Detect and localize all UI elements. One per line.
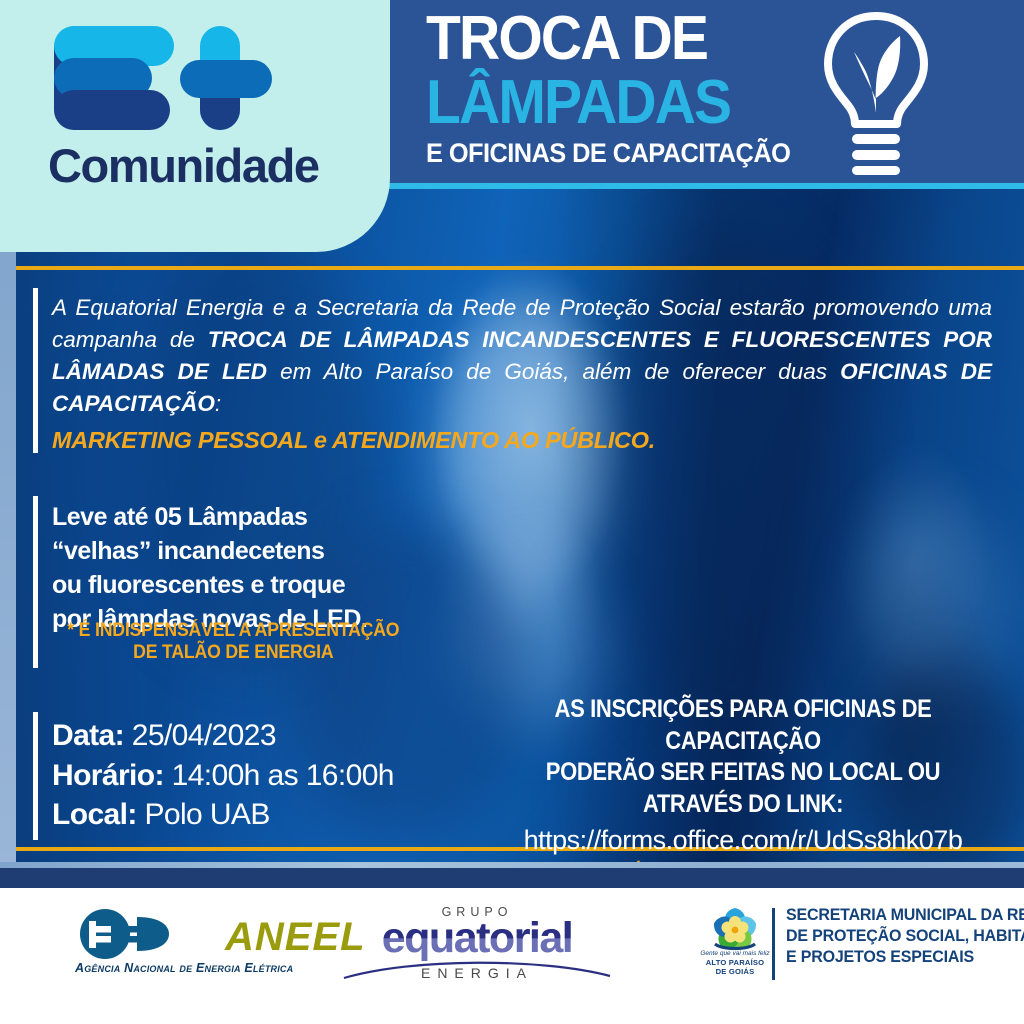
alto-paraiso-city-line1: ALTO PARAÍSO (700, 958, 770, 967)
rules-note-line1: * É INDISPENSÁVEL A APRESENTAÇÃO (38, 620, 429, 642)
rules-line3: ou fluorescentes e troque (52, 568, 452, 602)
navy-band (0, 868, 1024, 888)
alto-paraiso-city-line2: DE GOIÁS (700, 967, 770, 976)
secretaria-line3: E PROJETOS ESPECIAIS (786, 947, 1024, 968)
aneel-name: ANEEL (225, 915, 366, 960)
alto-paraiso-script: Gente que vai mais feliz (700, 950, 770, 957)
secretaria-line2: DE PROTEÇÃO SOCIAL, HABITAÇÃO (786, 926, 1024, 947)
detail-place-value: Polo UAB (137, 798, 270, 831)
brand-logo-word: Comunidade (48, 138, 319, 193)
rules-note: * É INDISPENSÁVEL A APRESENTAÇÃO DE TALÃ… (38, 620, 429, 664)
aneel-subtitle: Agência Nacional de Energia Elétrica (75, 961, 293, 975)
aneel-logo: ANEEL Agência Nacional de Energia Elétri… (75, 909, 205, 964)
rules-line1: Leve até 05 Lâmpadas (52, 500, 452, 534)
equatorial-name-wrap: equatorial equatorial (352, 918, 602, 959)
signup-line1: AS INSCRIÇÕES PARA OFICINAS DE CAPACITAÇ… (503, 694, 983, 757)
equatorial-swoosh-icon (342, 959, 612, 986)
lightbulb-leaf-icon (816, 8, 936, 183)
equatorial-logo: GRUPO equatorial equatorial ENERGIA (352, 905, 602, 981)
detail-place-label: Local: (52, 798, 137, 831)
detail-time-value: 14:00h as 16:00h (164, 759, 394, 792)
eplus-logo-icon (48, 22, 278, 139)
secretaria-logo: Gente que vai mais feliz ALTO PARAÍSO DE… (700, 906, 770, 963)
accent-bar-intro (33, 288, 38, 453)
signup-block: AS INSCRIÇÕES PARA OFICINAS DE CAPACITAÇ… (470, 694, 1016, 885)
header-subtitle: E OFICINAS DE CAPACITAÇÃO (426, 140, 790, 167)
secretaria-line1: SECRETARIA MUNICIPAL DA REDE (786, 905, 1024, 926)
detail-place: Local: Polo UAB (52, 795, 482, 835)
signup-line2: PODERÃO SER FEITAS NO LOCAL OU ATRAVÉS D… (503, 757, 983, 820)
exchange-rules: Leve até 05 Lâmpadas “velhas” incandecet… (52, 500, 452, 636)
alto-paraiso-city: ALTO PARAÍSO DE GOIÁS (700, 958, 770, 976)
secretaria-text: SECRETARIA MUNICIPAL DA REDE DE PROTEÇÃO… (786, 905, 1024, 968)
secretaria-divider (772, 908, 775, 980)
brand-logo-panel: Comunidade (0, 0, 390, 252)
footer-bar: ANEEL Agência Nacional de Energia Elétri… (0, 888, 1024, 1024)
intro-highlight: MARKETING PESSOAL e ATENDIMENTO AO PÚBLI… (52, 424, 992, 457)
detail-date-label: Data: (52, 719, 124, 752)
divider-gold-top (0, 266, 1024, 270)
intro-seg3: : (215, 391, 221, 416)
rules-note-line2: DE TALÃO DE ENERGIA (38, 642, 429, 664)
signup-url[interactable]: https://forms.office.com/r/UdSs8hk07b (470, 823, 1016, 859)
detail-date: Data: 25/04/2023 (52, 716, 482, 756)
detail-date-value: 25/04/2023 (124, 719, 276, 752)
header-title-line2: LÂMPADAS (426, 72, 730, 134)
rules-line2: “velhas” incandecetens (52, 534, 452, 568)
detail-time: Horário: 14:00h as 16:00h (52, 756, 482, 796)
header-title-line1: TROCA DE (426, 8, 707, 70)
intro-seg2: em Alto Paraíso de Goiás, além de oferec… (267, 359, 840, 384)
poster: TROCA DE LÂMPADAS E OFICINAS DE CAPACITA… (0, 0, 1024, 1024)
event-details: Data: 25/04/2023 Horário: 14:00h as 16:0… (52, 716, 482, 835)
accent-bar-details (33, 712, 38, 840)
intro-paragraph: A Equatorial Energia e a Secretaria da R… (52, 292, 992, 457)
detail-time-label: Horário: (52, 759, 164, 792)
edge-left-strip (0, 189, 16, 886)
